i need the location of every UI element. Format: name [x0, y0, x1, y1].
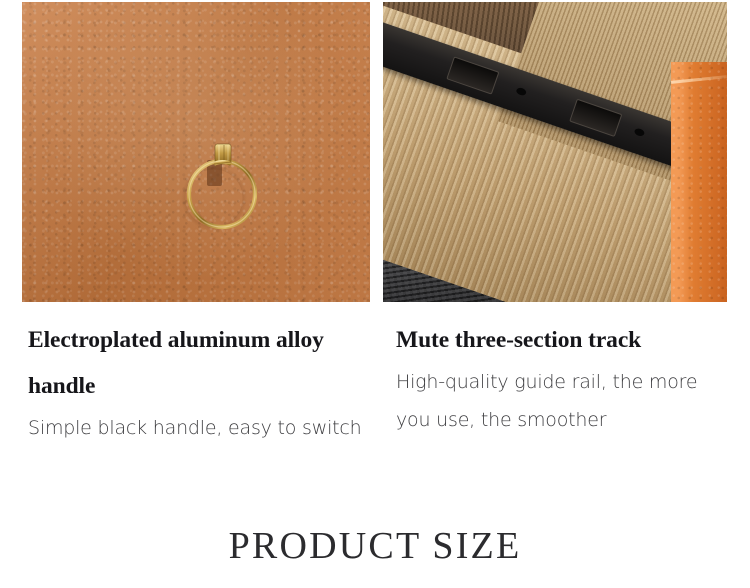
feature-text-handle: Electroplated aluminum alloy handle Simp… [28, 305, 368, 447]
drawer-slide-scene [383, 2, 727, 302]
cabinet-corner-post [671, 62, 727, 302]
feature-text-row: Electroplated aluminum alloy handle Simp… [0, 305, 750, 485]
feature-description-handle: Simple black handle, easy to switch [28, 409, 368, 447]
section-heading-product-size: PRODUCT SIZE [0, 521, 750, 571]
feature-description-track: High-quality guide rail, the more you us… [396, 363, 736, 439]
rail-slot [569, 99, 622, 137]
product-feature-page: Electroplated aluminum alloy handle Simp… [0, 0, 750, 588]
rail-screw-hole [515, 87, 527, 97]
feature-text-track: Mute three-section track High-quality gu… [396, 305, 736, 439]
feature-title-track: Mute three-section track [396, 305, 736, 363]
feature-image-track [383, 2, 727, 302]
feature-image-handle [22, 2, 370, 302]
ring-pull-handle-icon [174, 132, 270, 236]
feature-title-handle: Electroplated aluminum alloy handle [28, 305, 368, 409]
rail-screw-hole [634, 127, 646, 137]
rail-slot [446, 56, 499, 94]
feature-image-row [0, 0, 750, 305]
